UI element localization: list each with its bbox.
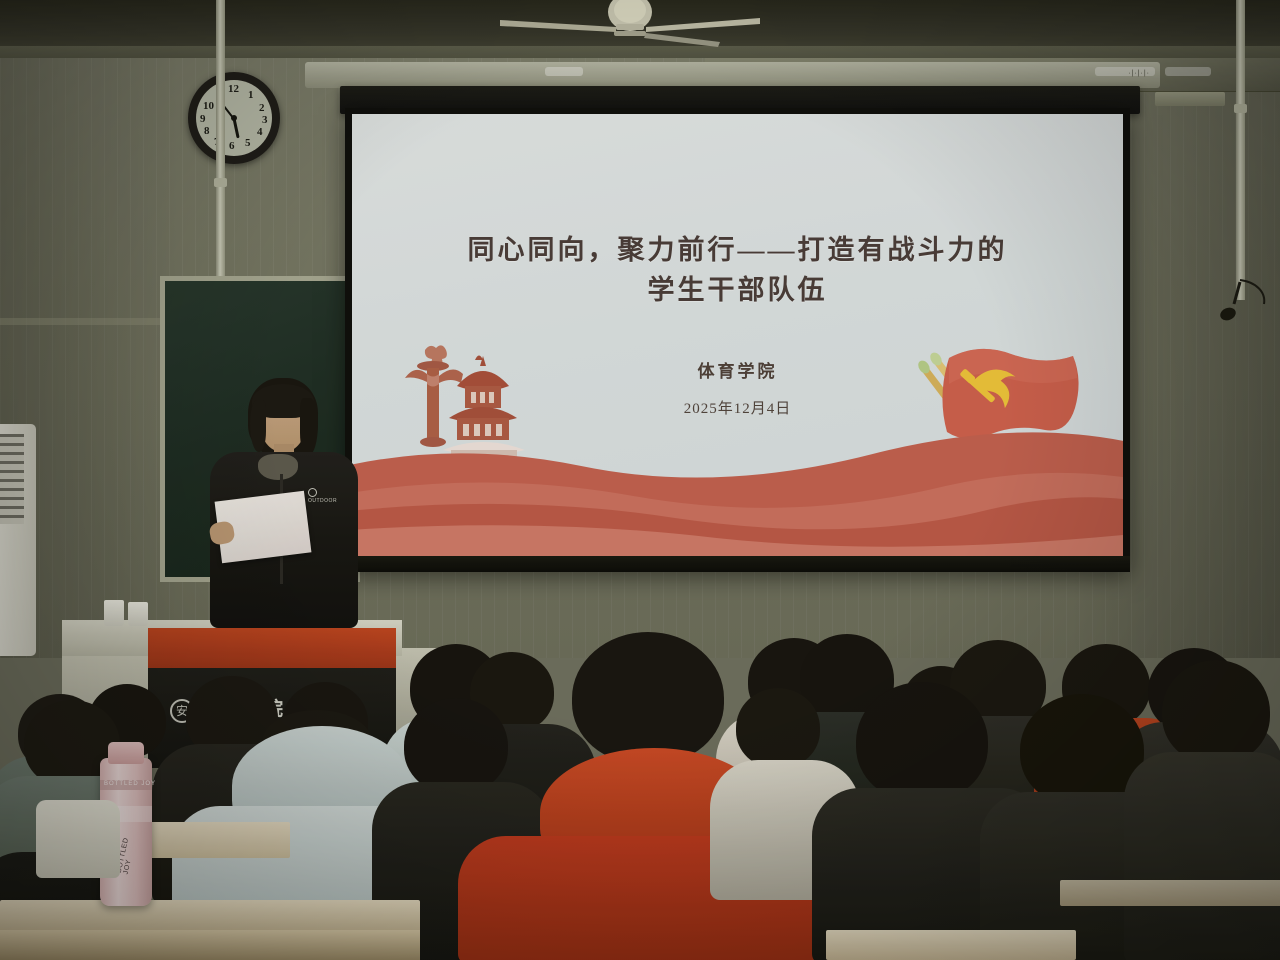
clock-numeral: 2 xyxy=(259,102,265,114)
slide-ribbon-waves xyxy=(352,410,1123,560)
desk-edge xyxy=(0,930,420,960)
slide-organization: 体育学院 xyxy=(352,357,1123,382)
desk-surface xyxy=(826,930,1076,960)
slide-title-line-2: 学生干部队伍 xyxy=(412,270,1063,311)
screen-housing: ·|·|·|· xyxy=(305,62,1160,88)
projection-screen: 同心同向，聚力前行——打造有战斗力的 学生干部队伍 体育学院 2025年12月4… xyxy=(345,108,1130,570)
screen-bottom-rail xyxy=(345,556,1130,572)
slide-date: 2025年12月4日 xyxy=(352,397,1123,418)
student-head xyxy=(856,682,988,802)
student-head-red-hoodie xyxy=(572,632,724,764)
student-head xyxy=(404,698,508,794)
jacket-brand-text: OUTDOOR xyxy=(308,498,330,510)
presenter-hair-side xyxy=(300,398,318,456)
presentation-slide: 同心同向，聚力前行——打造有战斗力的 学生干部队伍 体育学院 2025年12月4… xyxy=(352,114,1123,560)
pipe-joint xyxy=(214,178,227,187)
desk-surface xyxy=(1060,880,1280,906)
clock-numeral: 9 xyxy=(200,113,206,125)
clock-face: 12 1 2 3 4 5 6 7 8 9 10 xyxy=(196,80,272,156)
ceiling-fan-icon xyxy=(470,0,770,58)
ac-grille xyxy=(0,434,24,524)
presenter: OUTDOOR xyxy=(196,378,366,628)
student-head xyxy=(1162,660,1270,764)
clock-numeral: 5 xyxy=(245,137,251,149)
cup xyxy=(104,600,124,626)
presenter-collar xyxy=(258,454,298,480)
wall-pipe-left xyxy=(216,0,225,300)
bottle-cap xyxy=(108,742,144,764)
classroom-scene: 12 1 2 3 4 5 6 7 8 9 10 xyxy=(0,0,1280,960)
clock-center-pin xyxy=(231,115,237,121)
bottle-brand-small: BOTTLED JOY xyxy=(104,781,156,787)
cup xyxy=(128,602,148,626)
wall-pipe-right xyxy=(1236,0,1245,300)
wall-trim xyxy=(0,318,170,325)
jacket-logo-icon xyxy=(308,488,317,497)
ceiling-light-fixture xyxy=(1155,92,1225,106)
slide-title-line-1: 同心同向，聚力前行——打造有战斗力的 xyxy=(412,230,1063,271)
clock-numeral: 8 xyxy=(204,125,210,137)
podium-accent-band xyxy=(148,628,396,670)
air-conditioner xyxy=(0,424,36,656)
clock-numeral: 10 xyxy=(203,100,214,112)
cloth xyxy=(36,800,120,878)
clock-numeral: 12 xyxy=(228,83,239,95)
housing-label: ·|·|·|· xyxy=(1128,70,1150,77)
presenter-hair-side xyxy=(250,400,266,452)
hanging-microphone-icon xyxy=(1208,278,1278,348)
clock-hour-hand xyxy=(233,118,240,138)
clock-numeral: 4 xyxy=(257,126,263,138)
student-body xyxy=(1124,752,1280,960)
clock-numeral: 1 xyxy=(248,89,254,101)
slide-title: 同心同向，聚力前行——打造有战斗力的 学生干部队伍 xyxy=(352,230,1123,311)
pipe-joint xyxy=(1234,104,1247,113)
desk-surface xyxy=(0,900,420,932)
student-head xyxy=(736,688,820,768)
clock-numeral: 6 xyxy=(229,140,235,152)
clock-numeral: 3 xyxy=(262,114,268,126)
wall-clock: 12 1 2 3 4 5 6 7 8 9 10 xyxy=(188,72,280,164)
